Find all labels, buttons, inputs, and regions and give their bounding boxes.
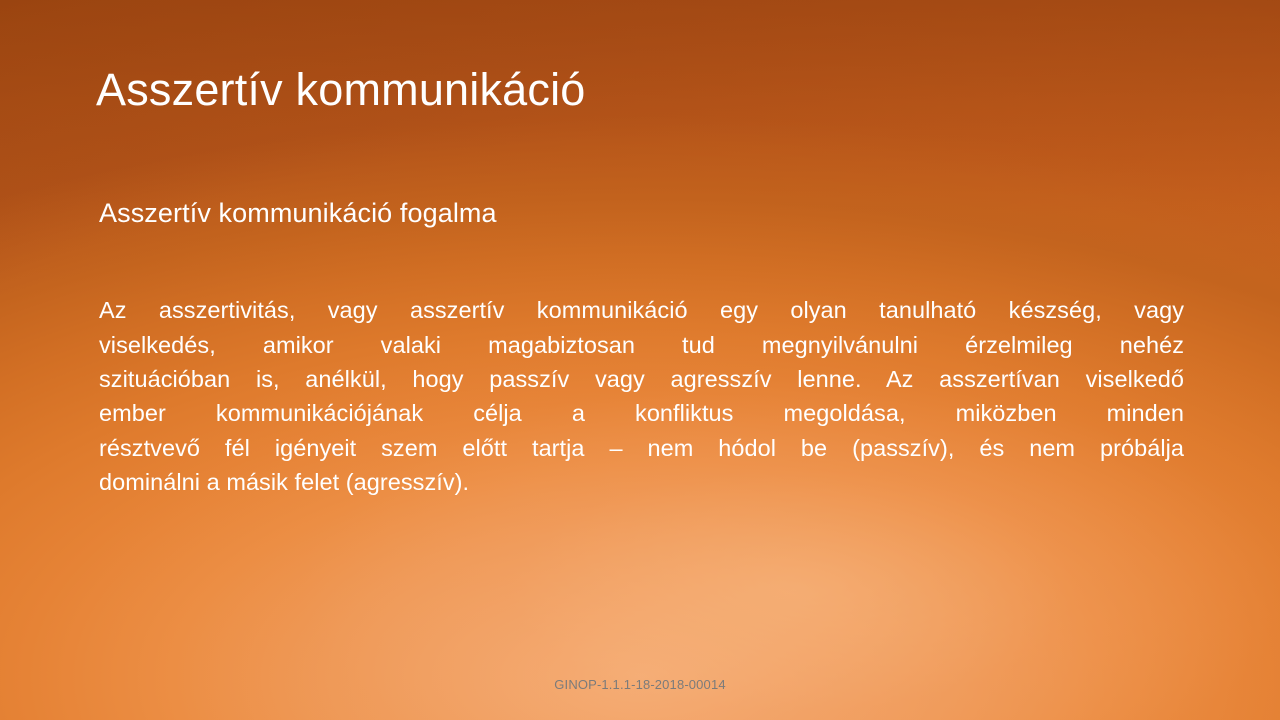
- paragraph-line: Az asszertivitás, vagy asszertív kommuni…: [99, 293, 1184, 327]
- slide-paragraph: Az asszertivitás, vagy asszertív kommuni…: [99, 293, 1184, 499]
- presentation-slide: Asszertív kommunikáció Asszertív kommuni…: [0, 0, 1280, 720]
- paragraph-line: viselkedés, amikor valaki magabiztosan t…: [99, 328, 1184, 362]
- slide-subtitle: Asszertív kommunikáció fogalma: [99, 196, 1184, 231]
- slide-content: Asszertív kommunikáció Asszertív kommuni…: [0, 0, 1280, 720]
- paragraph-line: dominálni a másik felet (agresszív).: [99, 465, 1184, 499]
- slide-footer-project-code: GINOP-1.1.1-18-2018-00014: [0, 677, 1280, 692]
- slide-title: Asszertív kommunikáció: [96, 65, 1186, 115]
- paragraph-line: résztvevő fél igényeit szem előtt tartja…: [99, 431, 1184, 465]
- paragraph-line: ember kommunikációjának célja a konflikt…: [99, 396, 1184, 430]
- slide-body: Asszertív kommunikáció fogalma Az asszer…: [99, 196, 1184, 500]
- paragraph-line: szituációban is, anélkül, hogy passzív v…: [99, 362, 1184, 396]
